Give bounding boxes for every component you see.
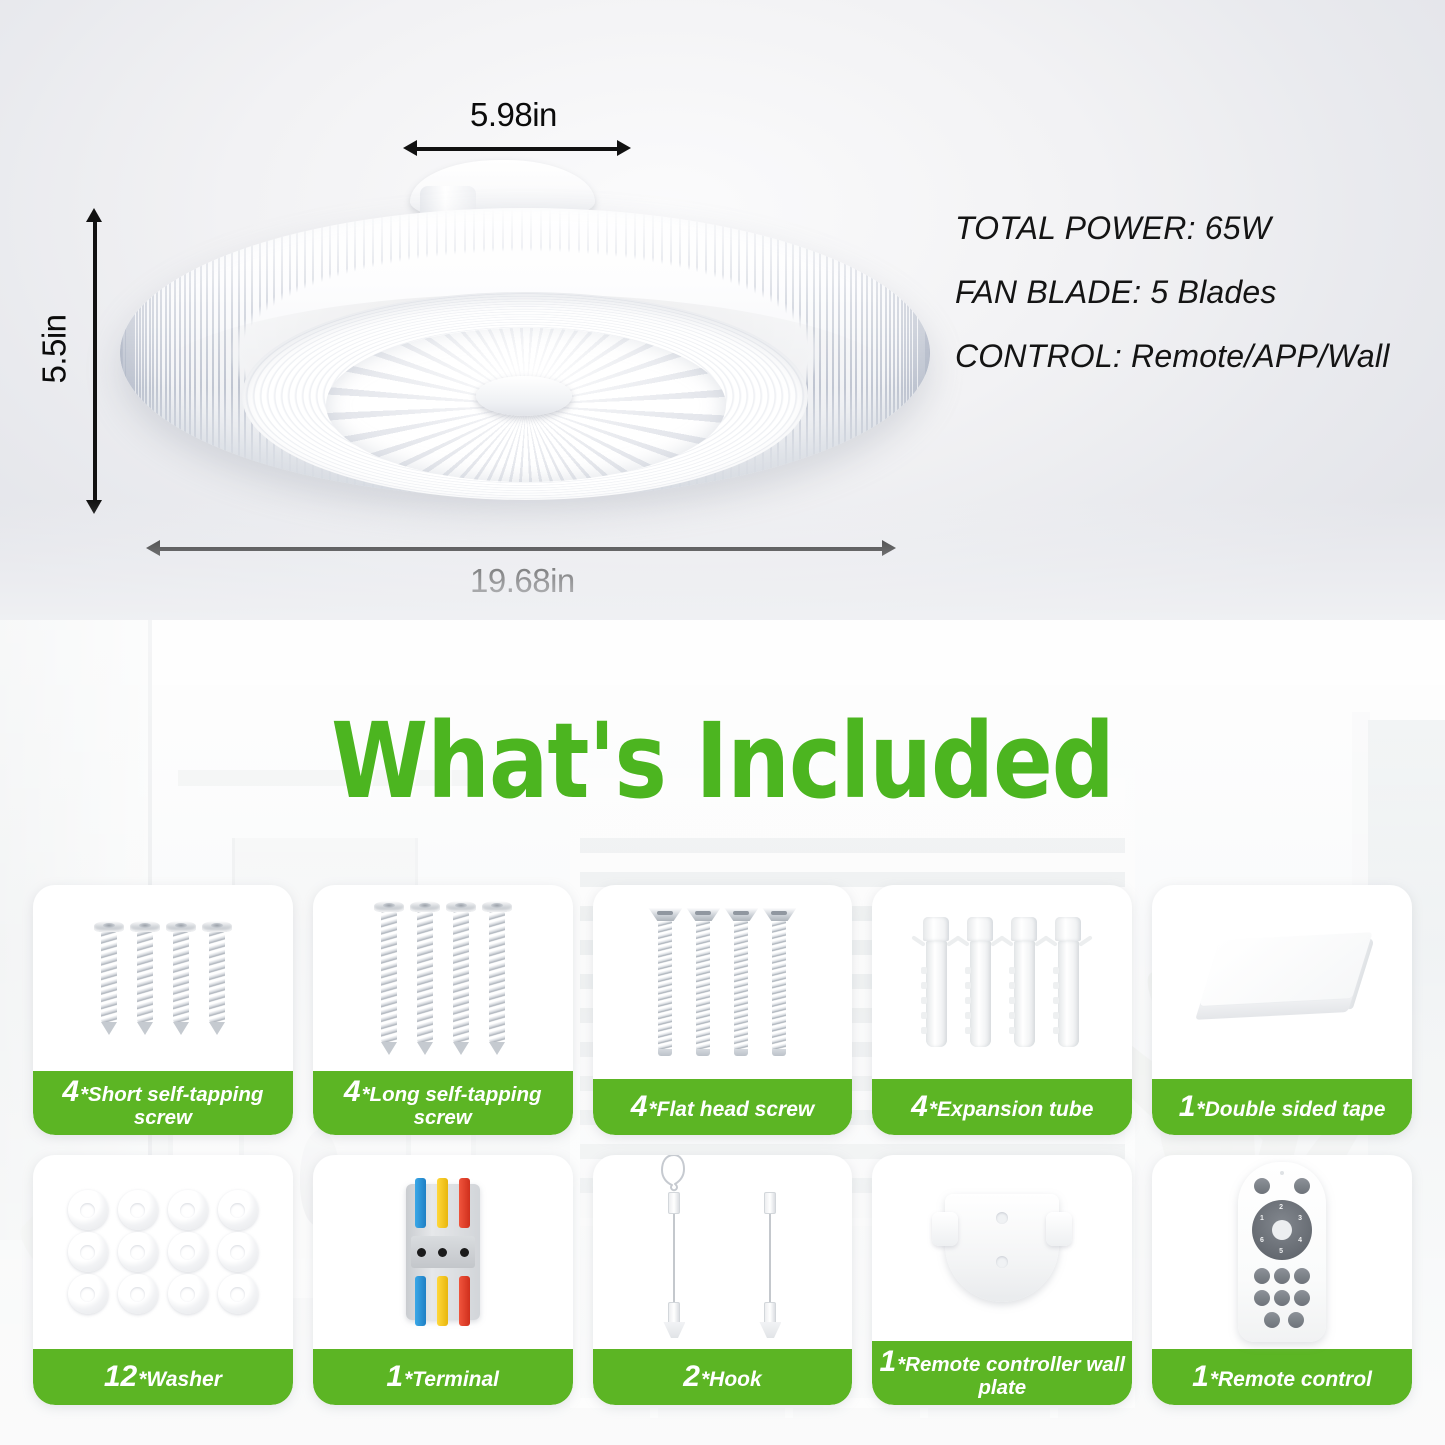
- depth-dimension-label: 5.98in: [470, 96, 557, 134]
- included-item-name: *Long self-tapping screw: [362, 1083, 542, 1129]
- flat-head-screw-artwork: [593, 885, 853, 1079]
- included-item-label: 1*Terminal: [313, 1349, 573, 1405]
- screw-shank: [734, 921, 748, 1049]
- screw-shank: [137, 932, 153, 1022]
- included-item-label: 4*Expansion tube: [872, 1079, 1132, 1135]
- anchor-collar: [967, 917, 993, 941]
- hook-group: [593, 1155, 853, 1349]
- fan-rim-rib: [901, 208, 903, 498]
- specification-list: TOTAL POWER: 65W FAN BLADE: 5 Blades CON…: [955, 212, 1435, 404]
- included-item-label: 1*Remote controller wall plate: [872, 1341, 1132, 1405]
- short-self-tapping-screw-item: [206, 921, 228, 1035]
- flat-head-screw-item: [767, 908, 791, 1056]
- hook-ferrule: [764, 1302, 776, 1324]
- terminal-lever-top: [415, 1178, 426, 1228]
- terminal-lever-bottom: [415, 1276, 426, 1326]
- anchor-barb: [1053, 1027, 1059, 1034]
- fan-rim-rib: [120, 208, 121, 498]
- included-item-quantity: 1: [1192, 1360, 1209, 1393]
- included-item-card: 2*Hook: [593, 1155, 853, 1405]
- screw-tip: [137, 1022, 153, 1035]
- remote-timer-button[interactable]: [1254, 1268, 1270, 1284]
- included-item-quantity: 4: [911, 1090, 928, 1123]
- wall-plate-screw-hole: [996, 1212, 1008, 1224]
- screw-head: [374, 901, 404, 912]
- remote-ir-led: [1280, 1171, 1284, 1175]
- remote-speed-dial[interactable]: 123456: [1252, 1200, 1312, 1260]
- short-self-tapping-screw-item: [134, 921, 156, 1035]
- included-items-row-2: 12*Washer1*Terminal2*Hook1*Remote contro…: [33, 1155, 1412, 1405]
- carabiner-hook-icon: [659, 1155, 689, 1196]
- terminal-port: [460, 1248, 469, 1257]
- terminal-port: [438, 1248, 447, 1257]
- long-self-tapping-screw-item: [450, 901, 472, 1055]
- included-item-label: 12*Washer: [33, 1349, 293, 1405]
- long-self-tapping-screw-group: [313, 885, 573, 1071]
- fan-rim-rib: [129, 208, 131, 498]
- included-item-label-text: 12*Washer: [104, 1362, 222, 1393]
- screw-tip: [453, 1042, 469, 1055]
- fan-body: [120, 208, 930, 520]
- anchor-barb: [921, 1027, 927, 1034]
- terminal-lever-top: [437, 1178, 448, 1228]
- included-item-card: 1*Double sided tape: [1152, 885, 1412, 1135]
- double-sided-tape-artwork: [1152, 885, 1412, 1079]
- fan-rim-rib: [889, 208, 891, 498]
- short-self-tapping-screw-group: [33, 885, 293, 1071]
- flat-head-screw-group: [593, 885, 853, 1079]
- arrow-head-right: [617, 140, 631, 156]
- remote-mode-button[interactable]: [1274, 1268, 1290, 1284]
- screw-head: [130, 921, 160, 932]
- anchor-barb: [1053, 1012, 1059, 1019]
- anchor-barb: [1009, 967, 1015, 974]
- included-item-label-text: 1*Terminal: [386, 1362, 499, 1393]
- fan-rim-rib: [907, 208, 909, 498]
- included-item-label: 4*Short self-tapping screw: [33, 1071, 293, 1135]
- fan-rim-rib: [133, 208, 135, 498]
- wall-plate-screw-hole: [996, 1256, 1008, 1268]
- screw-shank: [489, 912, 505, 1042]
- fan-rim-rib: [920, 208, 922, 498]
- screw-shank: [101, 932, 117, 1022]
- expansion-tube-artwork: [872, 885, 1132, 1079]
- anchor-body: [970, 941, 991, 1047]
- included-item-name: *Remote control: [1210, 1368, 1372, 1391]
- screw-shank: [696, 921, 710, 1049]
- flat-head-screw-item: [653, 908, 677, 1056]
- short-self-tapping-screw-item: [98, 921, 120, 1035]
- screw-shank: [209, 932, 225, 1022]
- terminal-lever-top: [459, 1178, 470, 1228]
- arrow-shaft: [414, 147, 620, 151]
- remote-speed-number: 5: [1279, 1248, 1283, 1255]
- screw-tip: [173, 1022, 189, 1035]
- anchor-barb: [921, 982, 927, 989]
- included-item-name: *Double sided tape: [1196, 1098, 1385, 1121]
- included-item-label-text: 1*Remote controller wall plate: [878, 1347, 1126, 1399]
- screw-head: [446, 901, 476, 912]
- hook-artwork: [593, 1155, 853, 1349]
- short-self-tapping-screw-item: [170, 921, 192, 1035]
- included-item-quantity: 4: [62, 1075, 79, 1108]
- remote-controller-wall-plate-artwork: [872, 1155, 1132, 1341]
- expansion-tube-group: [872, 885, 1132, 1079]
- remote-breeze-button[interactable]: [1274, 1290, 1290, 1306]
- screw-tip: [734, 1049, 748, 1056]
- included-items-row-1: 4*Short self-tapping screw4*Long self-ta…: [33, 885, 1412, 1135]
- screw-head: [762, 908, 796, 921]
- screw-tip: [209, 1022, 225, 1035]
- fan-rim-rib: [149, 208, 151, 498]
- washer-item: [118, 1232, 158, 1272]
- remote-speed-number: 4: [1298, 1237, 1302, 1244]
- safety-hook-item: [748, 1162, 792, 1342]
- terminal-port-strip: [411, 1236, 475, 1268]
- included-item-name: *Terminal: [404, 1368, 499, 1391]
- height-dimension-label: 5.5in: [36, 314, 74, 383]
- flat-head-screw-item: [729, 908, 753, 1056]
- washer-item: [68, 1232, 108, 1272]
- included-item-card: 4*Flat head screw: [593, 885, 853, 1135]
- arrow-head-right: [882, 540, 896, 556]
- remote-app-button[interactable]: [1288, 1312, 1304, 1328]
- washer-item: [168, 1232, 208, 1272]
- fan-rim-rib: [139, 208, 141, 498]
- screw-tip: [772, 1049, 786, 1056]
- included-item-card: 12*Washer: [33, 1155, 293, 1405]
- fan-rim-rib: [145, 208, 147, 498]
- fan-rim-rib: [142, 208, 144, 498]
- short-self-tapping-screw-artwork: [33, 885, 293, 1071]
- anchor-barb: [1009, 1027, 1015, 1034]
- hook-ferrule: [668, 1302, 680, 1324]
- screw-shank: [772, 921, 786, 1049]
- remote-power-button[interactable]: [1254, 1178, 1270, 1194]
- included-item-label-text: 2*Hook: [683, 1362, 761, 1393]
- spec-control: CONTROL: Remote/APP/Wall: [955, 340, 1435, 372]
- remote-speed-number: 3: [1298, 1215, 1302, 1222]
- spec-total-power: TOTAL POWER: 65W: [955, 212, 1435, 244]
- fan-rim-rib: [897, 208, 899, 498]
- screw-head: [686, 908, 720, 921]
- anchor-barb: [1009, 1012, 1015, 1019]
- fan-rim-rib: [156, 208, 158, 498]
- screw-tip: [489, 1042, 505, 1055]
- screw-head: [482, 901, 512, 912]
- anchor-body: [1058, 941, 1079, 1047]
- anchor-barb: [965, 982, 971, 989]
- screw-shank: [417, 912, 433, 1042]
- screw-head: [166, 921, 196, 932]
- screw-tip: [696, 1049, 710, 1056]
- anchor-barb: [921, 967, 927, 974]
- tape-top: [1200, 932, 1373, 1006]
- long-self-tapping-screw-item: [378, 901, 400, 1055]
- screw-head: [410, 901, 440, 912]
- fan-rim-rib: [152, 208, 154, 498]
- anchor-barb: [965, 1027, 971, 1034]
- washer-item: [168, 1190, 208, 1230]
- included-item-quantity: 4: [344, 1075, 361, 1108]
- screw-head: [648, 908, 682, 921]
- washer-item: [68, 1274, 108, 1314]
- included-item-name: *Flat head screw: [648, 1098, 814, 1121]
- washer-item: [118, 1190, 158, 1230]
- width-dimension-label: 19.68in: [470, 562, 575, 600]
- fan-rim-rib: [131, 208, 133, 498]
- screw-tip: [417, 1042, 433, 1055]
- washer-item: [218, 1232, 258, 1272]
- included-item-label: 2*Hook: [593, 1349, 853, 1405]
- anchor-barb: [965, 967, 971, 974]
- included-item-quantity: 1: [1179, 1090, 1196, 1123]
- anchor-barb: [1053, 967, 1059, 974]
- remote-sleep-button[interactable]: [1294, 1290, 1310, 1306]
- screw-shank: [173, 932, 189, 1022]
- washer-item: [218, 1274, 258, 1314]
- included-item-quantity: 12: [104, 1360, 137, 1393]
- fan-rim-rib: [893, 208, 895, 498]
- remote-control-item: 123456: [1238, 1162, 1326, 1342]
- wall-plate-tab: [932, 1212, 958, 1246]
- included-item-card: 4*Long self-tapping screw: [313, 885, 573, 1135]
- included-item-label-text: 1*Remote control: [1192, 1362, 1372, 1393]
- anchor-barb: [1053, 982, 1059, 989]
- included-item-label-text: 1*Double sided tape: [1179, 1092, 1386, 1123]
- anchor-collar: [1011, 917, 1037, 941]
- expansion-tube-item: [921, 917, 951, 1047]
- terminal-block-item: [406, 1184, 480, 1320]
- screw-shank: [453, 912, 469, 1042]
- terminal-port: [417, 1248, 426, 1257]
- fan-hub: [476, 376, 572, 416]
- included-item-card: 1*Terminal: [313, 1155, 573, 1405]
- arrow-head-left: [146, 540, 160, 556]
- arrow-shaft: [157, 547, 885, 551]
- included-item-name: *Expansion tube: [929, 1098, 1094, 1121]
- wall-plate-tab: [1046, 1212, 1072, 1246]
- included-item-label: 1*Remote control: [1152, 1349, 1412, 1405]
- product-dimension-panel: 5.98in 5.5in 19.68in TOTAL POWER: 65W FA…: [0, 0, 1445, 620]
- fan-rim-rib: [165, 208, 167, 498]
- anchor-barb: [1053, 997, 1059, 1004]
- included-item-name: *Hook: [701, 1368, 762, 1391]
- ceiling-fan-product-image: [120, 160, 930, 520]
- anchor-barb: [921, 1012, 927, 1019]
- anchor-collar: [923, 917, 949, 941]
- screw-tip: [381, 1042, 397, 1055]
- washer-item: [168, 1274, 208, 1314]
- anchor-barb: [1009, 997, 1015, 1004]
- hook-end-fitting: [663, 1322, 685, 1338]
- remote-cct-button[interactable]: [1264, 1312, 1280, 1328]
- included-item-quantity: 1: [386, 1360, 403, 1393]
- anchor-barb: [921, 997, 927, 1004]
- expansion-tube-item: [965, 917, 995, 1047]
- height-dimension-arrow: [86, 208, 102, 514]
- spec-fan-blade: FAN BLADE: 5 Blades: [955, 276, 1435, 308]
- screw-tip: [101, 1022, 117, 1035]
- remote-control-artwork: 123456: [1152, 1155, 1412, 1349]
- fan-rim-rib: [136, 208, 138, 498]
- included-item-label-text: 4*Flat head screw: [631, 1092, 814, 1123]
- anchor-collar: [1055, 917, 1081, 941]
- washer-item: [218, 1190, 258, 1230]
- included-item-name: *Remote controller wall plate: [897, 1353, 1125, 1399]
- double-sided-tape-item: [1191, 932, 1372, 1032]
- long-self-tapping-screw-item: [486, 901, 508, 1055]
- fan-icon: [1272, 1220, 1292, 1240]
- remote-dim-button[interactable]: [1294, 1268, 1310, 1284]
- included-item-card: 1234561*Remote control: [1152, 1155, 1412, 1405]
- fan-rim-rib: [918, 208, 920, 498]
- flat-head-screw-item: [691, 908, 715, 1056]
- whats-included-panel: What's Included 4*Short self-tapping scr…: [0, 620, 1445, 1445]
- anchor-body: [926, 941, 947, 1047]
- screw-head: [202, 921, 232, 932]
- anchor-body: [1014, 941, 1035, 1047]
- remote-controller-wall-plate-item: [945, 1194, 1059, 1302]
- fan-rim-rib: [915, 208, 917, 498]
- section-title: What's Included: [43, 700, 1401, 822]
- terminal-artwork: [313, 1155, 573, 1349]
- included-item-label: 4*Long self-tapping screw: [313, 1071, 573, 1135]
- anchor-barb: [965, 997, 971, 1004]
- depth-dimension-arrow: [403, 140, 631, 156]
- included-item-label: 1*Double sided tape: [1152, 1079, 1412, 1135]
- expansion-tube-item: [1053, 917, 1083, 1047]
- anchor-barb: [965, 1012, 971, 1019]
- fan-rim-rib: [910, 208, 912, 498]
- expansion-tube-item: [1009, 917, 1039, 1047]
- screw-head: [724, 908, 758, 921]
- included-item-quantity: 2: [683, 1360, 700, 1393]
- arrow-head-bottom: [86, 500, 102, 514]
- included-item-quantity: 1: [880, 1345, 897, 1378]
- fan-rim-rib: [904, 208, 906, 498]
- remote-speed-number: 1: [1260, 1215, 1264, 1222]
- anchor-barb: [1009, 982, 1015, 989]
- washer-group: [33, 1155, 293, 1349]
- included-item-card: 4*Short self-tapping screw: [33, 885, 293, 1135]
- included-item-quantity: 4: [631, 1090, 648, 1123]
- safety-hook-item: [652, 1162, 696, 1342]
- screw-shank: [381, 912, 397, 1042]
- screw-head: [94, 921, 124, 932]
- arrow-shaft: [93, 219, 97, 503]
- fan-rim-rib: [922, 208, 924, 498]
- terminal-lever-bottom: [459, 1276, 470, 1326]
- remote-speed-number: 6: [1260, 1237, 1264, 1244]
- screw-shank: [658, 921, 672, 1049]
- fan-rim-rib: [885, 208, 887, 498]
- included-item-label-text: 4*Short self-tapping screw: [39, 1077, 287, 1129]
- hook-ferrule: [764, 1192, 776, 1214]
- fan-rim-rib: [913, 208, 915, 498]
- included-item-name: *Short self-tapping screw: [80, 1083, 263, 1129]
- included-item-card: 1*Remote controller wall plate: [872, 1155, 1132, 1405]
- screw-tip: [658, 1049, 672, 1056]
- long-self-tapping-screw-artwork: [313, 885, 573, 1071]
- included-item-card: 4*Expansion tube: [872, 885, 1132, 1135]
- included-item-label-text: 4*Expansion tube: [911, 1092, 1093, 1123]
- included-item-name: *Washer: [138, 1368, 222, 1391]
- fan-rim-rib: [160, 208, 162, 498]
- washer-artwork: [33, 1155, 293, 1349]
- washer-item: [68, 1190, 108, 1230]
- remote-speed-number: 2: [1279, 1204, 1283, 1211]
- fan-rim-rib: [127, 208, 129, 498]
- long-self-tapping-screw-item: [414, 901, 436, 1055]
- washer-item: [118, 1274, 158, 1314]
- included-item-label: 4*Flat head screw: [593, 1079, 853, 1135]
- width-dimension-arrow: [146, 540, 896, 556]
- included-item-label-text: 4*Long self-tapping screw: [319, 1077, 567, 1129]
- hook-ferrule: [668, 1192, 680, 1214]
- hook-end-fitting: [759, 1322, 781, 1338]
- terminal-lever-bottom: [437, 1276, 448, 1326]
- remote-light-button[interactable]: [1294, 1178, 1310, 1194]
- remote-reverse-button[interactable]: [1254, 1290, 1270, 1306]
